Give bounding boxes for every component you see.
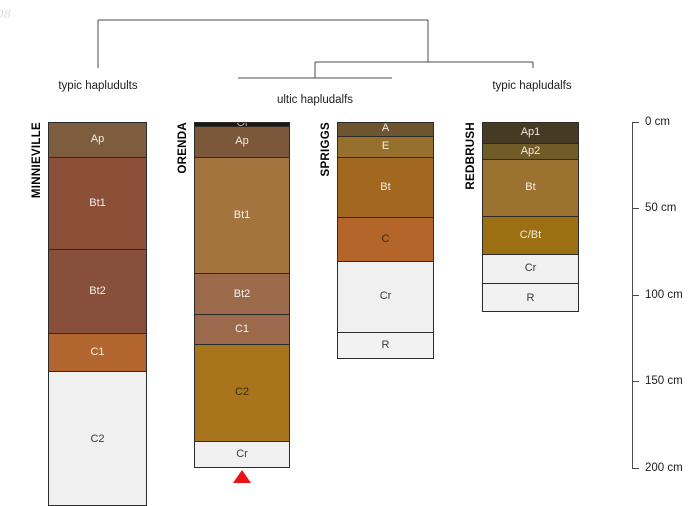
- soil-horizon[interactable]: Cr: [337, 262, 434, 333]
- taxon-label-2: typic hapludalfs: [492, 80, 571, 92]
- soil-profile-column: AEBtCCrR: [337, 122, 434, 359]
- depth-axis-tick: [632, 208, 639, 209]
- depth-axis-tick-label: 150 cm: [645, 375, 683, 387]
- soil-horizon[interactable]: C2: [194, 345, 290, 442]
- horizon-label: A: [382, 123, 389, 134]
- horizon-label: C2: [90, 434, 104, 445]
- soil-horizon[interactable]: Bt2: [194, 274, 290, 316]
- soil-horizon[interactable]: R: [337, 333, 434, 359]
- profile-series-name: MINNIEVILLE: [31, 122, 43, 198]
- soil-horizon[interactable]: C: [337, 218, 434, 261]
- profile-series-name: SPRIGGS: [320, 122, 332, 177]
- horizon-label: C: [382, 234, 390, 245]
- soil-profile-column: Ap1Ap2BtC/BtCrR: [482, 122, 579, 312]
- soil-horizon[interactable]: E: [337, 137, 434, 158]
- depth-axis-tick-label: 50 cm: [645, 202, 676, 214]
- red-marker-triangle[interactable]: [233, 470, 251, 483]
- depth-axis-tick: [632, 381, 639, 382]
- horizon-label: Bt2: [89, 286, 106, 297]
- horizon-label: C1: [90, 347, 104, 358]
- soil-horizon[interactable]: C2: [48, 372, 147, 505]
- horizon-label: Cr: [236, 449, 248, 460]
- profile-series-name: ORENDA: [177, 122, 189, 174]
- horizon-label: Bt1: [234, 210, 251, 221]
- soil-horizon[interactable]: Ap: [194, 127, 290, 158]
- horizon-label: C1: [235, 324, 249, 335]
- depth-axis-tick-label: 100 cm: [645, 289, 683, 301]
- soil-horizon[interactable]: A: [337, 122, 434, 138]
- soil-horizon[interactable]: Ap: [48, 122, 147, 158]
- horizon-label: Ap2: [521, 146, 541, 157]
- taxon-label-0: typic hapludults: [58, 80, 137, 92]
- profile-series-name: REDBRUSH: [465, 122, 477, 190]
- horizon-label: R: [382, 340, 390, 351]
- soil-profile-figure: -08 typic hapludultsultic hapludalfstypi…: [0, 0, 700, 500]
- depth-axis-tick: [632, 122, 639, 123]
- taxon-label-1: ultic hapludalfs: [277, 94, 353, 106]
- horizon-label: Bt1: [89, 198, 106, 209]
- soil-horizon[interactable]: Bt2: [48, 250, 147, 335]
- horizon-label: Bt: [380, 182, 390, 193]
- horizon-label: E: [382, 141, 389, 152]
- depth-axis-tick: [632, 468, 639, 469]
- horizon-label: C/Bt: [520, 230, 541, 241]
- horizon-label: Ap: [91, 134, 104, 145]
- soil-horizon[interactable]: Bt1: [48, 158, 147, 250]
- horizon-label: Ap: [235, 136, 248, 147]
- soil-horizon[interactable]: Bt: [337, 158, 434, 219]
- soil-profile-column: ApBt1Bt2C1C2: [48, 122, 147, 506]
- soil-horizon[interactable]: R: [482, 284, 579, 312]
- horizon-label: C2: [235, 387, 249, 398]
- soil-horizon[interactable]: Cr: [194, 442, 290, 468]
- horizon-label: Ap1: [521, 127, 541, 138]
- horizon-label: Cr: [525, 263, 537, 274]
- horizon-label: R: [527, 293, 535, 304]
- depth-axis-tick-label: 200 cm: [645, 462, 683, 474]
- soil-horizon[interactable]: Cr: [482, 255, 579, 284]
- soil-horizon[interactable]: Ap1: [482, 122, 579, 145]
- soil-horizon[interactable]: C1: [48, 334, 147, 372]
- depth-axis-tick-label: 0 cm: [645, 116, 670, 128]
- horizon-label: Bt: [525, 182, 535, 193]
- soil-profile-column: OiApBt1Bt2C1C2Cr: [194, 122, 290, 468]
- soil-horizon[interactable]: C1: [194, 315, 290, 344]
- soil-horizon[interactable]: Ap2: [482, 144, 579, 160]
- horizon-label: Bt2: [234, 289, 251, 300]
- soil-horizon[interactable]: Bt1: [194, 158, 290, 274]
- soil-horizon[interactable]: Bt: [482, 160, 579, 217]
- depth-axis: 0 cm50 cm100 cm150 cm200 cm: [632, 122, 692, 468]
- horizon-label: Cr: [380, 291, 392, 302]
- soil-horizon[interactable]: C/Bt: [482, 217, 579, 255]
- depth-axis-tick: [632, 295, 639, 296]
